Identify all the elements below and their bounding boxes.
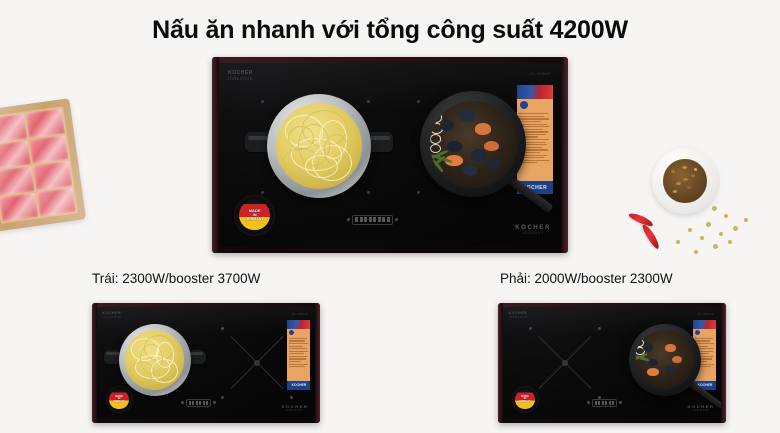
brand-mark-sub: Induction [228,76,253,82]
warranty-sticker-header [287,320,310,329]
control-dot-left[interactable] [181,401,184,404]
brand-sub: GERMANY [282,409,309,412]
model-code-label: DI-688HP [698,312,714,316]
ground-spices [663,159,707,203]
germany-line3: GERMANY [113,401,125,403]
germany-line3: GERMANY [519,401,531,403]
zone-center-hub [254,360,260,366]
caption-right-zone: Phải: 2000W/booster 2300W [500,271,673,286]
brand-sub: GERMANY [515,231,551,235]
cooktop-top-left-mark: KOCHER Induction [509,311,528,319]
stainless-pot [267,94,371,198]
cooktop-glass-surface: KOCHER Induction DI-688HP [219,63,561,246]
cooktop-edge-right [315,303,320,423]
touch-control-panel[interactable] [587,399,623,408]
warranty-text-lines [289,338,309,369]
power-slider[interactable] [592,399,618,408]
seafood-pan [420,91,526,197]
control-dot-right[interactable] [213,401,216,404]
touch-control-panel[interactable] [347,215,398,225]
cooktop-right-zone-demo: KOCHER Induction DI-688HP [498,303,726,423]
brand-sub: GERMANY [688,409,715,412]
brand-mark-sub: Induction [103,315,122,319]
spice-bowl [652,148,718,214]
power-slider[interactable] [186,399,212,408]
control-dot-left[interactable] [347,218,350,221]
warranty-sticker: KOCHER [287,320,310,390]
model-code-label: DI-688HP [530,71,551,76]
cooktop-brand-logo: KOCHER GERMANY [515,225,551,235]
power-slider[interactable] [352,215,393,225]
german-flag-disc: MADE IN GERMANY [515,390,535,410]
red-chili-2 [641,223,662,250]
zone-center-hub [562,360,568,366]
brand-mark-sub: Induction [509,315,528,319]
cooking-zone-left-empty [531,329,599,397]
touch-control-panel[interactable] [181,399,217,408]
made-in-germany-sticker: MADE IN GERMANY [235,196,274,235]
made-in-germany-sticker: MADE IN GERMANY [513,387,538,412]
cooktop-edge-right [721,303,726,423]
plastic-wrap [0,98,86,232]
model-code-label: DI-688HP [292,312,308,316]
cooktop-left-zone-demo: KOCHER Induction DI-688HP [92,303,320,423]
control-dot-right[interactable] [619,401,622,404]
brand-name: KOCHER [515,225,551,231]
control-dot-right[interactable] [395,218,398,221]
control-dot-left[interactable] [587,401,590,404]
warranty-badge-icon [289,330,294,335]
poster-canvas: Nấu ăn nhanh với tổng công suất 4200W [0,0,780,433]
germany-line3: GERMANY [245,218,263,222]
german-flag-disc: MADE IN GERMANY [239,200,269,230]
cooking-zone-right-empty [223,329,291,397]
cooktop-brand-logo: KOCHER GERMANY [282,404,309,412]
cooktop-edge-right [561,57,568,253]
cooktop-glass-surface: KOCHER Induction DI-688HP [503,307,722,419]
stainless-pot [119,324,191,396]
cooktop-main: KOCHER Induction DI-688HP [212,57,568,253]
pan-contents-seafood [430,101,517,188]
seafood-pan [629,324,701,396]
cooktop-top-left-mark: KOCHER Induction [228,70,253,82]
warranty-sticker-footer: KOCHER [287,381,310,390]
cooktop-glass-surface: KOCHER Induction DI-688HP [97,307,316,419]
cooktop-brand-logo: KOCHER GERMANY [688,404,715,412]
raw-beef-tray [0,98,86,232]
red-chili-1 [628,211,655,228]
page-title: Nấu ăn nhanh với tổng công suất 4200W [0,16,780,45]
pot-contents-noodles [125,330,185,390]
pot-handle-right [367,132,393,152]
caption-left-zone: Trái: 2300W/booster 3700W [92,271,260,286]
cooktop-top-left-mark: KOCHER Induction [103,311,122,319]
